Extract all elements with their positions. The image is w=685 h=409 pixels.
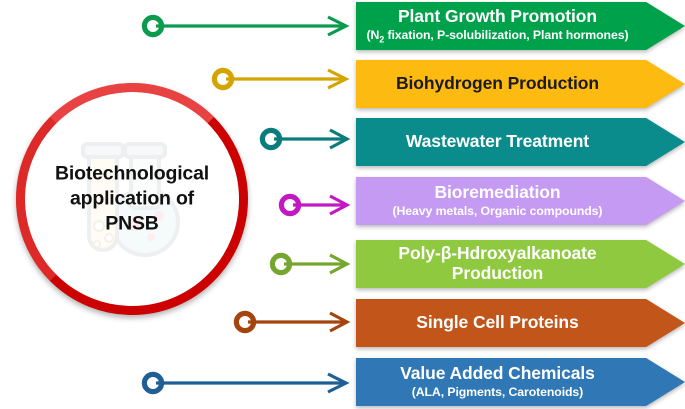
banner-bioremediation[interactable]: Bioremediation (Heavy metals, Organic co…	[356, 177, 685, 225]
center-label-line-2: application of	[27, 187, 237, 212]
banner-value-added-chemicals[interactable]: Value Added Chemicals (ALA, Pigments, Ca…	[356, 358, 685, 406]
connector-biohydrogen-production[interactable]	[208, 62, 356, 96]
banner-shape	[356, 177, 685, 225]
center-circle: Biotechnological application of PNSB	[16, 83, 248, 315]
connector-bioremediation[interactable]	[275, 188, 356, 222]
banner-shape	[356, 2, 685, 50]
center-label-line-1: Biotechnological	[27, 162, 237, 187]
center-label-line-3: PNSB	[27, 211, 237, 236]
banner-shape	[356, 240, 685, 288]
banner-single-cell-proteins[interactable]: Single Cell Proteins	[356, 299, 685, 347]
banner-shape	[356, 358, 685, 406]
banner-shape	[356, 299, 685, 347]
connector-value-added-chemicals[interactable]	[138, 366, 356, 400]
connector-plant-growth-promotion[interactable]	[138, 9, 356, 43]
connector-wastewater-treatment[interactable]	[256, 122, 356, 156]
banner-shape	[356, 60, 685, 108]
banner-shape	[356, 118, 685, 166]
connector-single-cell-proteins[interactable]	[230, 305, 356, 339]
banner-poly-b-hdroxyalkanoate-production[interactable]: Poly-β-Hdroxyalkanoate Production	[356, 240, 685, 288]
banner-biohydrogen-production[interactable]: Biohydrogen Production	[356, 60, 685, 108]
connector-poly-b-hdroxyalkanoate-production[interactable]	[266, 247, 356, 281]
diagram-canvas: Plant Growth Promotion (N2 fixation, P-s…	[0, 0, 685, 409]
center-label: Biotechnological application of PNSB	[27, 162, 237, 237]
banner-plant-growth-promotion[interactable]: Plant Growth Promotion (N2 fixation, P-s…	[356, 2, 685, 50]
banner-wastewater-treatment[interactable]: Wastewater Treatment	[356, 118, 685, 166]
